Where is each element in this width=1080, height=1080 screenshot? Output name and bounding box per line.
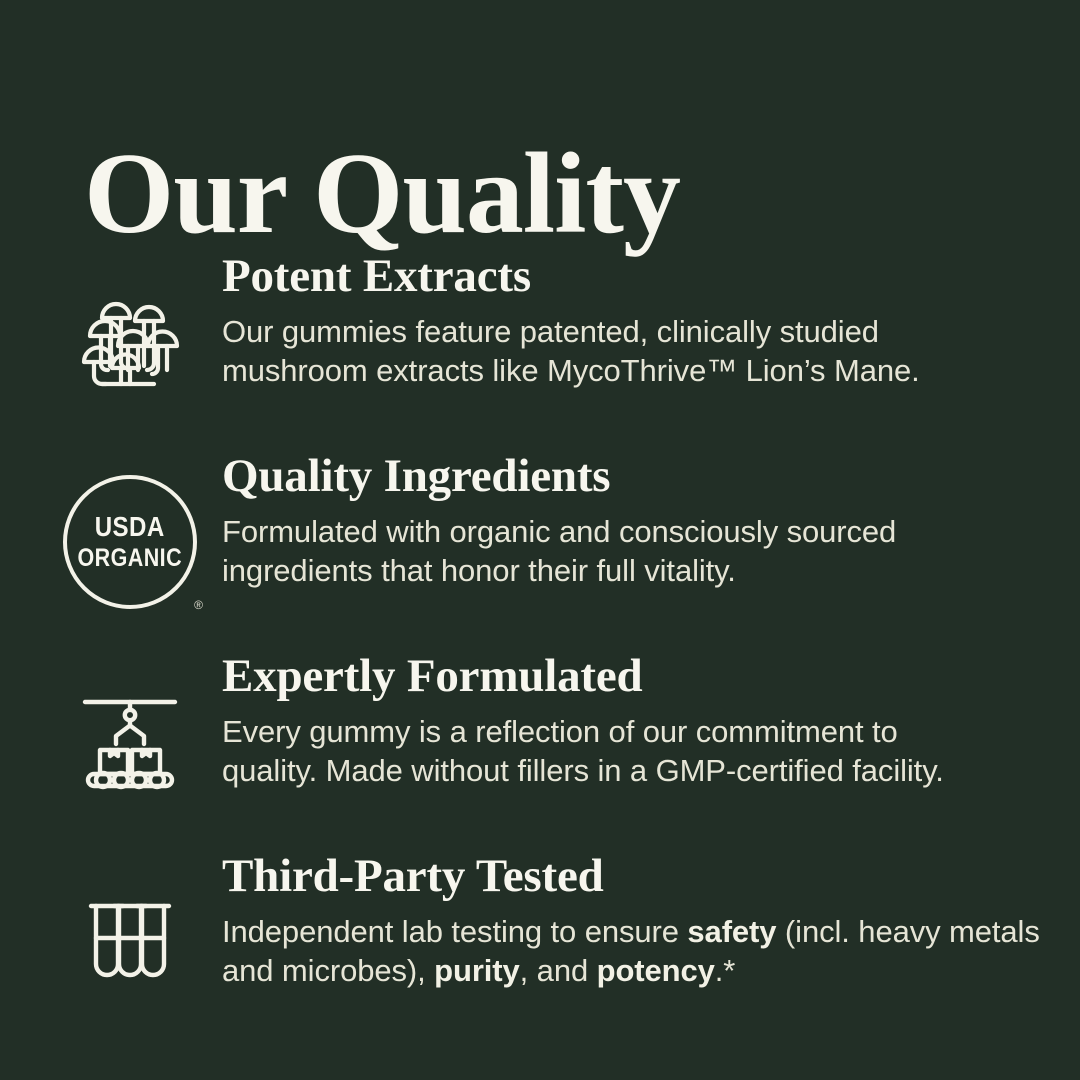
desc-text: Independent lab testing to ensure: [222, 914, 687, 949]
usda-seal-text: USDA ORGANIC: [63, 475, 197, 609]
feature-text-third-party-tested: Third-Party Tested Independent lab testi…: [198, 852, 1080, 990]
feature-description-line-2: mushroom extracts like MycoThrive™ Lion’…: [222, 353, 920, 388]
desc-text: , and: [520, 953, 597, 988]
feature-row-third-party-tested: Third-Party Tested Independent lab testi…: [0, 852, 1080, 1052]
feature-description: Our gummies feature patented, clinically…: [222, 312, 1040, 390]
feature-description-line-2: quality. Made without fillers in a GMP-c…: [222, 753, 944, 788]
registered-trademark-icon: ®: [194, 599, 203, 611]
feature-title: Potent Extracts: [222, 252, 1040, 302]
feature-description: Independent lab testing to ensure safety…: [222, 912, 1040, 990]
quality-page: Our Quality: [0, 0, 1080, 1080]
page-title: Our Quality: [84, 136, 680, 252]
usda-seal-line-2: ORGANIC: [78, 546, 183, 571]
feature-row-expertly-formulated: Expertly Formulated Every gummy is a ref…: [0, 652, 1080, 852]
feature-description-line-1: Formulated with organic and consciously …: [222, 514, 896, 549]
usda-seal: USDA ORGANIC ®: [63, 475, 197, 609]
feature-text-expertly-formulated: Expertly Formulated Every gummy is a ref…: [198, 652, 1080, 790]
test-tubes-icon: [62, 874, 198, 1010]
desc-text: .*: [715, 953, 735, 988]
feature-title: Expertly Formulated: [222, 652, 1040, 702]
usda-organic-seal-icon: USDA ORGANIC ®: [62, 474, 198, 610]
feature-text-quality-ingredients: Quality Ingredients Formulated with orga…: [198, 452, 1080, 590]
feature-list: Potent Extracts Our gummies feature pate…: [0, 252, 1080, 1052]
feature-description-line-2: ingredients that honor their full vitali…: [222, 553, 736, 588]
feature-description: Every gummy is a reflection of our commi…: [222, 712, 1040, 790]
desc-bold-purity: purity: [434, 953, 520, 988]
desc-bold-potency: potency: [597, 953, 715, 988]
mushroom-cluster-icon: [62, 274, 198, 410]
feature-description-line-1: Every gummy is a reflection of our commi…: [222, 714, 898, 749]
feature-title: Third-Party Tested: [222, 852, 1040, 902]
conveyor-belt-icon: [62, 674, 198, 810]
usda-seal-line-1: USDA: [95, 513, 165, 541]
feature-text-potent-extracts: Potent Extracts Our gummies feature pate…: [198, 252, 1080, 390]
feature-description: Formulated with organic and consciously …: [222, 512, 1040, 590]
desc-bold-safety: safety: [687, 914, 776, 949]
feature-description-line-1: Our gummies feature patented, clinically…: [222, 314, 879, 349]
feature-row-quality-ingredients: USDA ORGANIC ® Quality Ingredients Formu…: [0, 452, 1080, 652]
feature-title: Quality Ingredients: [222, 452, 1040, 502]
feature-row-potent-extracts: Potent Extracts Our gummies feature pate…: [0, 252, 1080, 452]
